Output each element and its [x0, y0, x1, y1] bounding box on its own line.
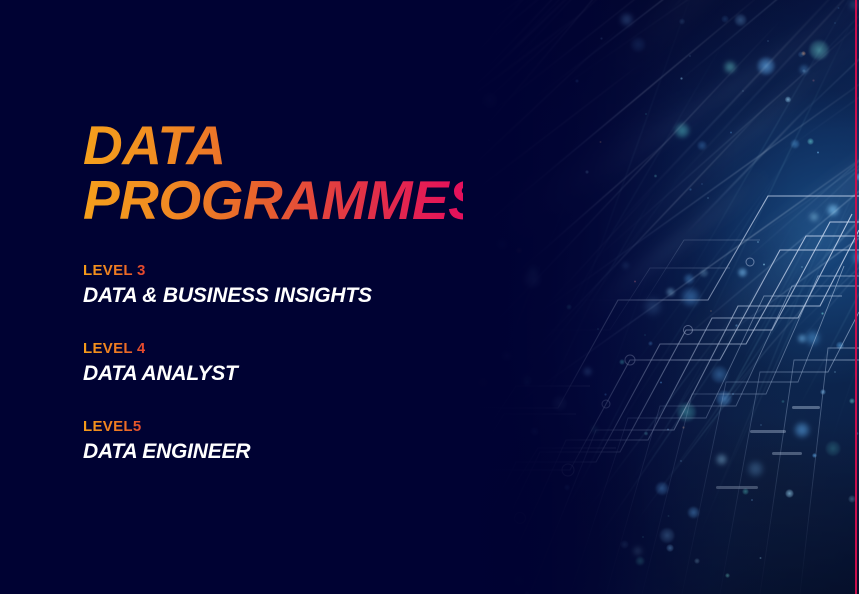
level-tag: LEVEL5: [83, 418, 483, 436]
level-tag: LEVEL 4: [83, 340, 483, 358]
level-title: DATA ENGINEER: [83, 439, 483, 464]
programme-level-list: LEVEL 3 DATA & BUSINESS INSIGHTS LEVEL 4…: [83, 262, 483, 464]
list-item: LEVEL 3 DATA & BUSINESS INSIGHTS: [83, 262, 483, 308]
slide-canvas: DATA PROGRAMMES LEVEL 3 DATA & BUSINESS …: [0, 0, 859, 594]
list-item: LEVEL 4 DATA ANALYST: [83, 340, 483, 386]
title-line-1: DATA: [83, 118, 483, 173]
level-tag: LEVEL 3: [83, 262, 483, 280]
title-line-2: PROGRAMMES: [83, 173, 483, 228]
level-title: DATA ANALYST: [83, 361, 483, 386]
list-item: LEVEL5 DATA ENGINEER: [83, 418, 483, 464]
abstract-technology-artwork: [420, 0, 859, 594]
page-title: DATA PROGRAMMES: [83, 118, 483, 228]
right-edge-accent-line: [855, 0, 857, 594]
artwork-left-fade: [420, 0, 859, 594]
level-title: DATA & BUSINESS INSIGHTS: [83, 283, 483, 308]
content-panel: DATA PROGRAMMES LEVEL 3 DATA & BUSINESS …: [0, 0, 480, 594]
